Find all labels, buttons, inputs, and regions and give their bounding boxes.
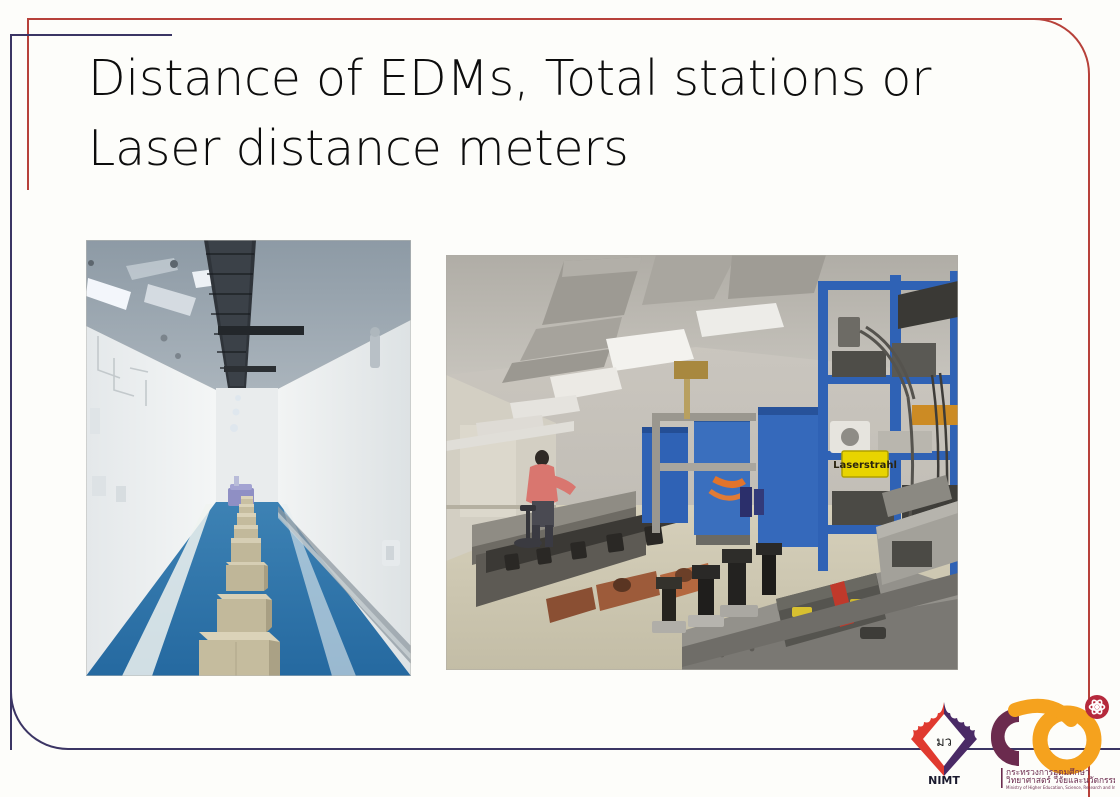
- frame-corner-navy-bottom-left: [10, 690, 70, 750]
- mhesi-atom-badge: [1085, 695, 1109, 719]
- svg-text:Laserstrahl: Laserstrahl: [833, 460, 897, 471]
- mhesi-logo-graphic: กระทรวงการอุดมศึกษา วิทยาศาสตร์ วิจัยและ…: [975, 694, 1115, 790]
- nimt-thai-mark: มว: [936, 735, 952, 750]
- frame-line-red-right: [1088, 74, 1090, 797]
- mhesi-logo: กระทรวงการอุดมศึกษา วิทยาศาสตร์ วิจัยและ…: [975, 694, 1115, 790]
- frame-line-navy-top: [10, 34, 172, 36]
- mhesi-english-line: Ministry of Higher Education, Science, R…: [1006, 785, 1115, 790]
- frame-line-navy-left: [10, 34, 12, 750]
- nimt-wordmark: NIMT: [928, 774, 960, 786]
- laserstrahl-sign-group: Laserstrahl: [833, 451, 897, 477]
- corridor-illustration: [86, 240, 411, 676]
- frame-line-red-top: [27, 18, 1062, 20]
- nimt-logo: มว NIMT: [905, 698, 983, 786]
- slide-title: Distance of EDMs, Total stations or Lase…: [88, 44, 1048, 183]
- baseline-corridor-photo: [86, 240, 411, 676]
- lab-illustration: Laserstrahl: [446, 255, 958, 670]
- interferometer-lab-photo: Laserstrahl: [446, 255, 958, 670]
- frame-line-red-left: [27, 18, 29, 190]
- presentation-slide: Distance of EDMs, Total stations or Lase…: [0, 0, 1120, 797]
- nimt-logo-graphic: มว NIMT: [905, 698, 983, 786]
- mhesi-thai-line-2: วิทยาศาสตร์ วิจัยและนวัตกรรม: [1006, 775, 1115, 785]
